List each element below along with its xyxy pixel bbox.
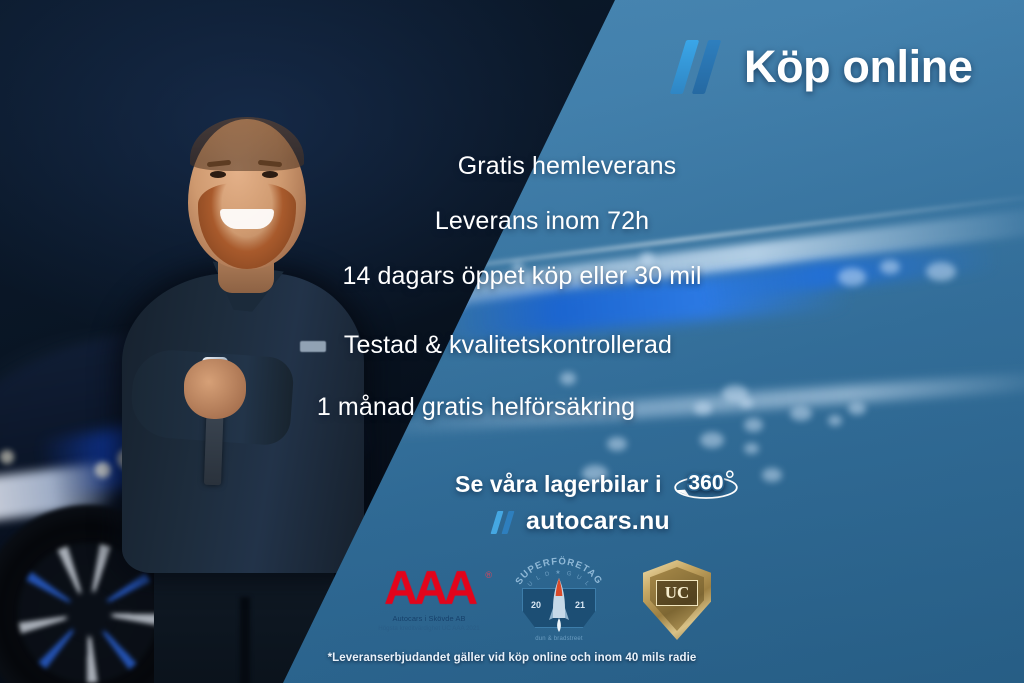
cta-line-360: Se våra lagerbilar i 360 (455, 466, 875, 502)
360-view-icon[interactable]: 360 (671, 466, 741, 502)
list-item-label: 14 dagars öppet köp eller 30 mil (343, 262, 702, 290)
ad-content: Köp online Gratis hemleverans Leverans i… (0, 0, 1024, 683)
aaa-note: Högsta kreditvärdighet UC AAA 2021 (364, 625, 494, 633)
list-item-label: Leverans inom 72h (435, 207, 649, 235)
list-item: Testad & kvalitetskontrollerad (0, 331, 1024, 360)
list-item: 1 månad gratis helförsäkring (0, 393, 1024, 422)
badge-year-left: 20 (531, 600, 541, 610)
list-item: Gratis hemleverans (0, 152, 1024, 181)
list-item-label: 1 månad gratis helförsäkring (317, 393, 635, 421)
cta-website[interactable]: autocars.nu (491, 507, 875, 536)
uc-mark: UC (656, 581, 698, 605)
disclaimer-text: *Leveranserbjudandet gäller vid köp onli… (0, 652, 1024, 664)
aaa-credit-rating-logo: AAA ® Autocars i Skövde AB Högsta kredit… (364, 564, 494, 633)
website-url[interactable]: autocars.nu (526, 507, 670, 536)
double-slash-icon (672, 36, 728, 98)
badge-year-right: 21 (575, 600, 585, 610)
list-item: 14 dagars öppet köp eller 30 mil (0, 262, 1024, 291)
certification-logos: AAA ® Autocars i Skövde AB Högsta kredit… (350, 552, 750, 652)
uc-certificate-logo: UC (639, 558, 715, 644)
rocket-icon (549, 578, 569, 632)
list-item-label: Gratis hemleverans (458, 152, 677, 180)
advertisement-banner: Köp online Gratis hemleverans Leverans i… (0, 0, 1024, 683)
aaa-mark: AAA (364, 564, 494, 611)
cta-block[interactable]: Se våra lagerbilar i 360 autocars.nu (455, 466, 875, 536)
badge-footer: dun & bradstreet (513, 636, 605, 642)
cta-label: Se våra lagerbilar i (455, 471, 662, 498)
aaa-company-name: Autocars i Skövde AB (364, 614, 494, 623)
list-item-label: Testad & kvalitetskontrollerad (344, 331, 672, 359)
superforetag-badge: SUPERFÖRETAG G U L D ★ G U L D 20 21 (513, 554, 605, 650)
list-item: Leverans inom 72h (0, 207, 1024, 236)
double-slash-icon (491, 509, 517, 535)
svg-text:360: 360 (688, 472, 723, 495)
headline-block: Köp online (672, 36, 972, 98)
page-title: Köp online (744, 41, 972, 93)
registered-trademark-icon: ® (485, 570, 492, 580)
